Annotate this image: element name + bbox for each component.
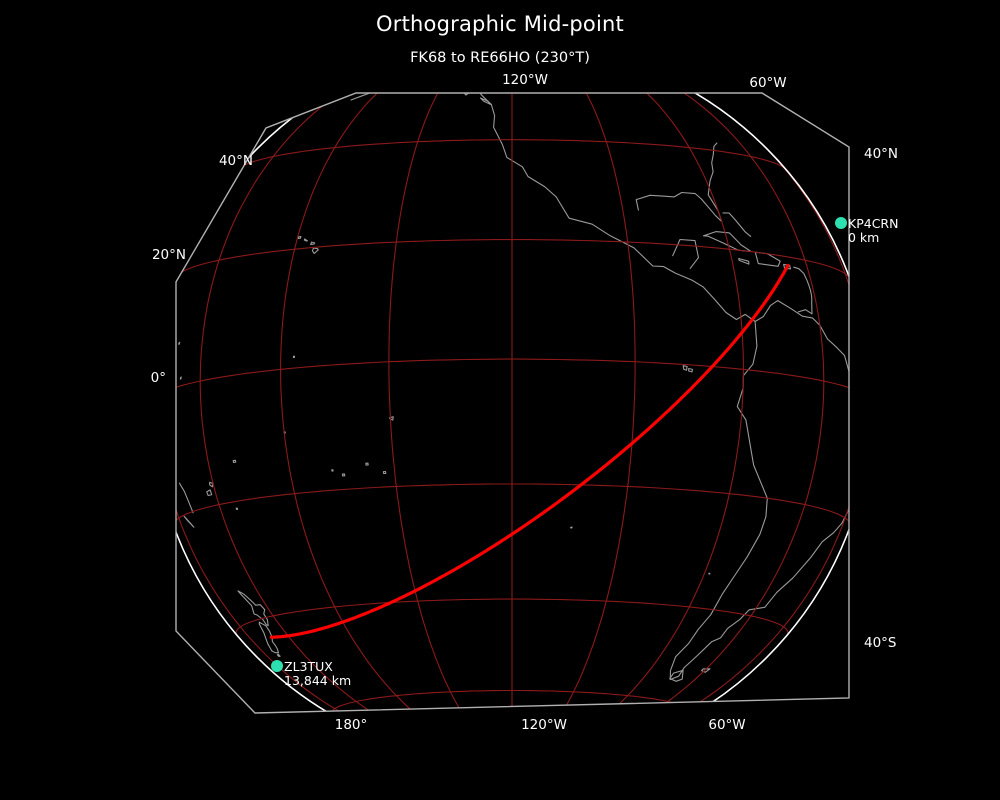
marker-distance-label: 0 km [848, 230, 879, 245]
map-page: Orthographic Mid-point FK68 to RE66HO (2… [0, 0, 1000, 800]
great-circle-path [271, 265, 788, 637]
graticule-tick-label-left: 20°N [152, 247, 186, 263]
graticule-tick-label-bottom: 180° [335, 717, 368, 733]
marker-distance-label: 13,844 km [284, 673, 351, 688]
graticule-tick-label-top: 60°W [749, 75, 786, 91]
endpoint-marker[interactable]: ZL3TUX13,844 km [271, 659, 351, 688]
marker-callsign-label: KP4CRN [848, 216, 898, 231]
endpoint-markers[interactable]: KP4CRN0 kmZL3TUX13,844 km [271, 216, 898, 688]
orthographic-map[interactable]: KP4CRN0 kmZL3TUX13,844 km 120°W60°W180°1… [0, 0, 1000, 800]
graticule-tick-label-bottom: 60°W [708, 717, 745, 733]
graticule-tick-label-bottom: 120°W [521, 717, 567, 733]
graticule-layer [152, 43, 872, 763]
graticule-tick-label-left: 40°N [219, 153, 253, 169]
graticule-tick-label-right: 40°N [864, 146, 898, 162]
map-content-group [152, 43, 872, 763]
marker-callsign-label: ZL3TUX [284, 659, 333, 674]
graticule-tick-label-top: 120°W [502, 72, 548, 88]
marker-dot-icon[interactable] [271, 660, 283, 672]
endpoint-marker[interactable]: KP4CRN0 km [835, 216, 898, 245]
marker-dot-icon[interactable] [835, 217, 847, 229]
graticule-tick-label-right: 40°S [864, 635, 897, 651]
graticule-tick-label-left: 0° [151, 370, 166, 386]
